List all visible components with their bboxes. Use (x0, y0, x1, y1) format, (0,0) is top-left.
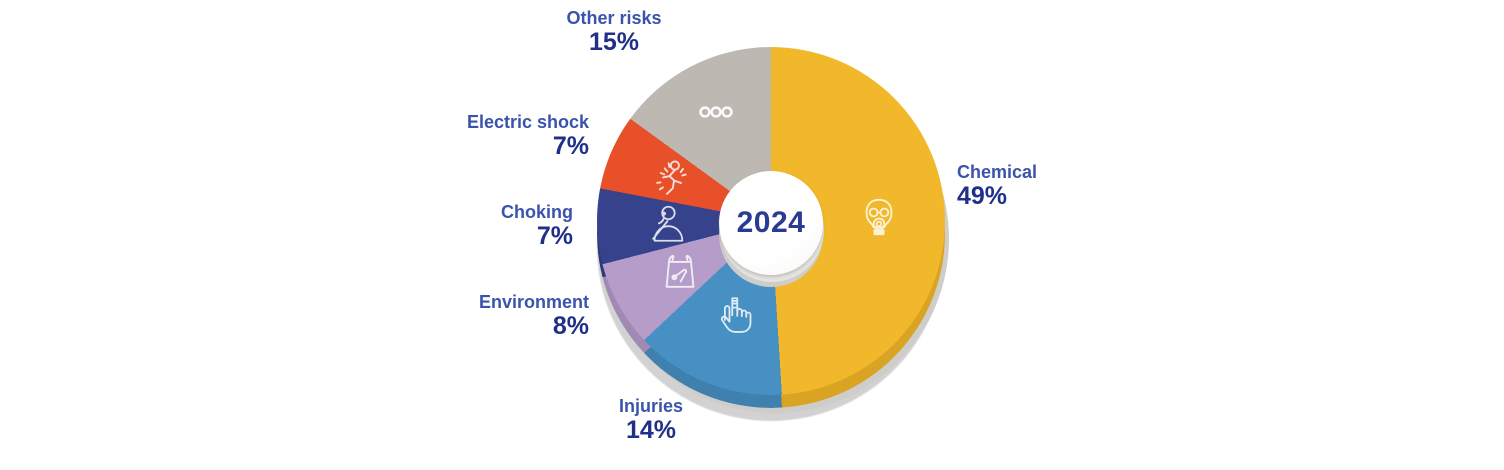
callout-electric-shock-name: Electric shock (421, 112, 589, 132)
callout-choking-name: Choking (421, 202, 573, 222)
callout-chemical: Chemical 49% (957, 162, 1127, 210)
callout-environment-name: Environment (411, 292, 589, 312)
callout-other-risks-name: Other risks (534, 8, 694, 28)
callout-environment-value: 8% (411, 312, 589, 340)
center-hub: 2024 (719, 171, 823, 275)
callout-choking-value: 7% (421, 222, 573, 250)
callout-other-risks-value: 15% (534, 28, 694, 56)
pie-chart-figure: 2024 Other risks 15% Electric shock 7% C… (0, 0, 1504, 470)
pie-chart: 2024 (597, 47, 945, 395)
center-year-label: 2024 (737, 208, 806, 238)
callout-injuries-value: 14% (581, 416, 721, 444)
callout-injuries-name: Injuries (581, 396, 721, 416)
callout-electric-shock: Electric shock 7% (421, 112, 589, 160)
callout-choking: Choking 7% (421, 202, 573, 250)
callout-chemical-value: 49% (957, 182, 1127, 210)
pie-chart-page: 2024 Other risks 15% Electric shock 7% C… (0, 0, 1504, 470)
callout-injuries: Injuries 14% (581, 396, 721, 444)
callout-environment: Environment 8% (411, 292, 589, 340)
callout-electric-shock-value: 7% (421, 132, 589, 160)
callout-other-risks: Other risks 15% (534, 8, 694, 56)
callout-chemical-name: Chemical (957, 162, 1127, 182)
